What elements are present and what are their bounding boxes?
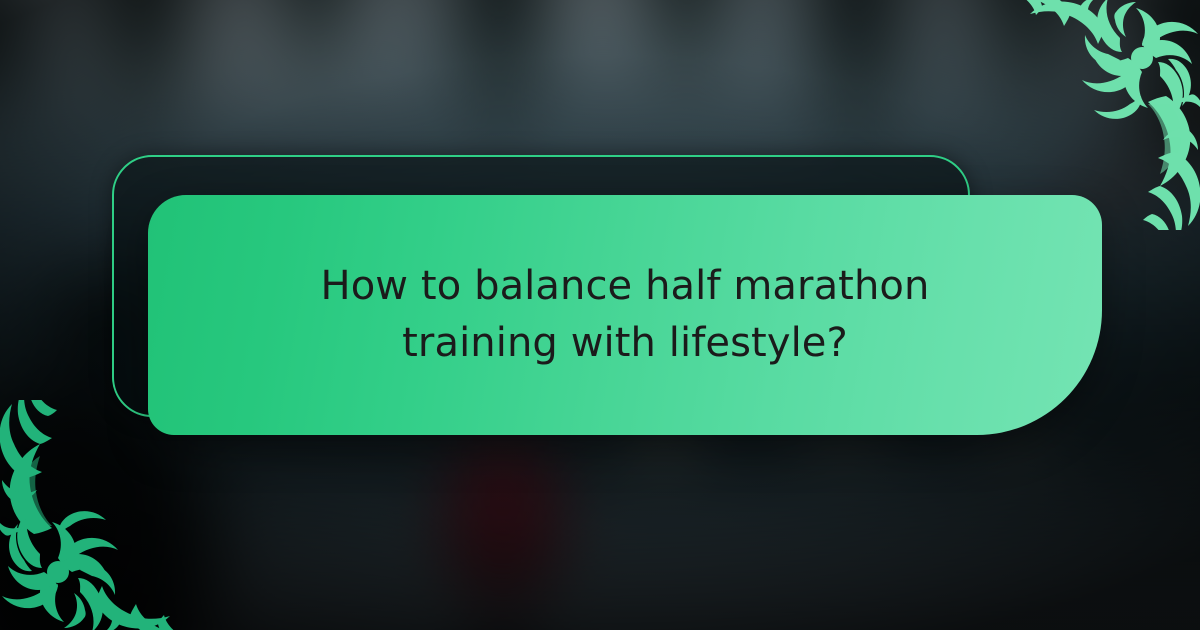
- banner-canvas: How to balance half marathon training wi…: [0, 0, 1200, 630]
- card-title-text: How to balance half marathon training wi…: [245, 258, 1005, 372]
- title-card[interactable]: How to balance half marathon training wi…: [148, 195, 1102, 435]
- title-card-stack: How to balance half marathon training wi…: [112, 155, 1102, 435]
